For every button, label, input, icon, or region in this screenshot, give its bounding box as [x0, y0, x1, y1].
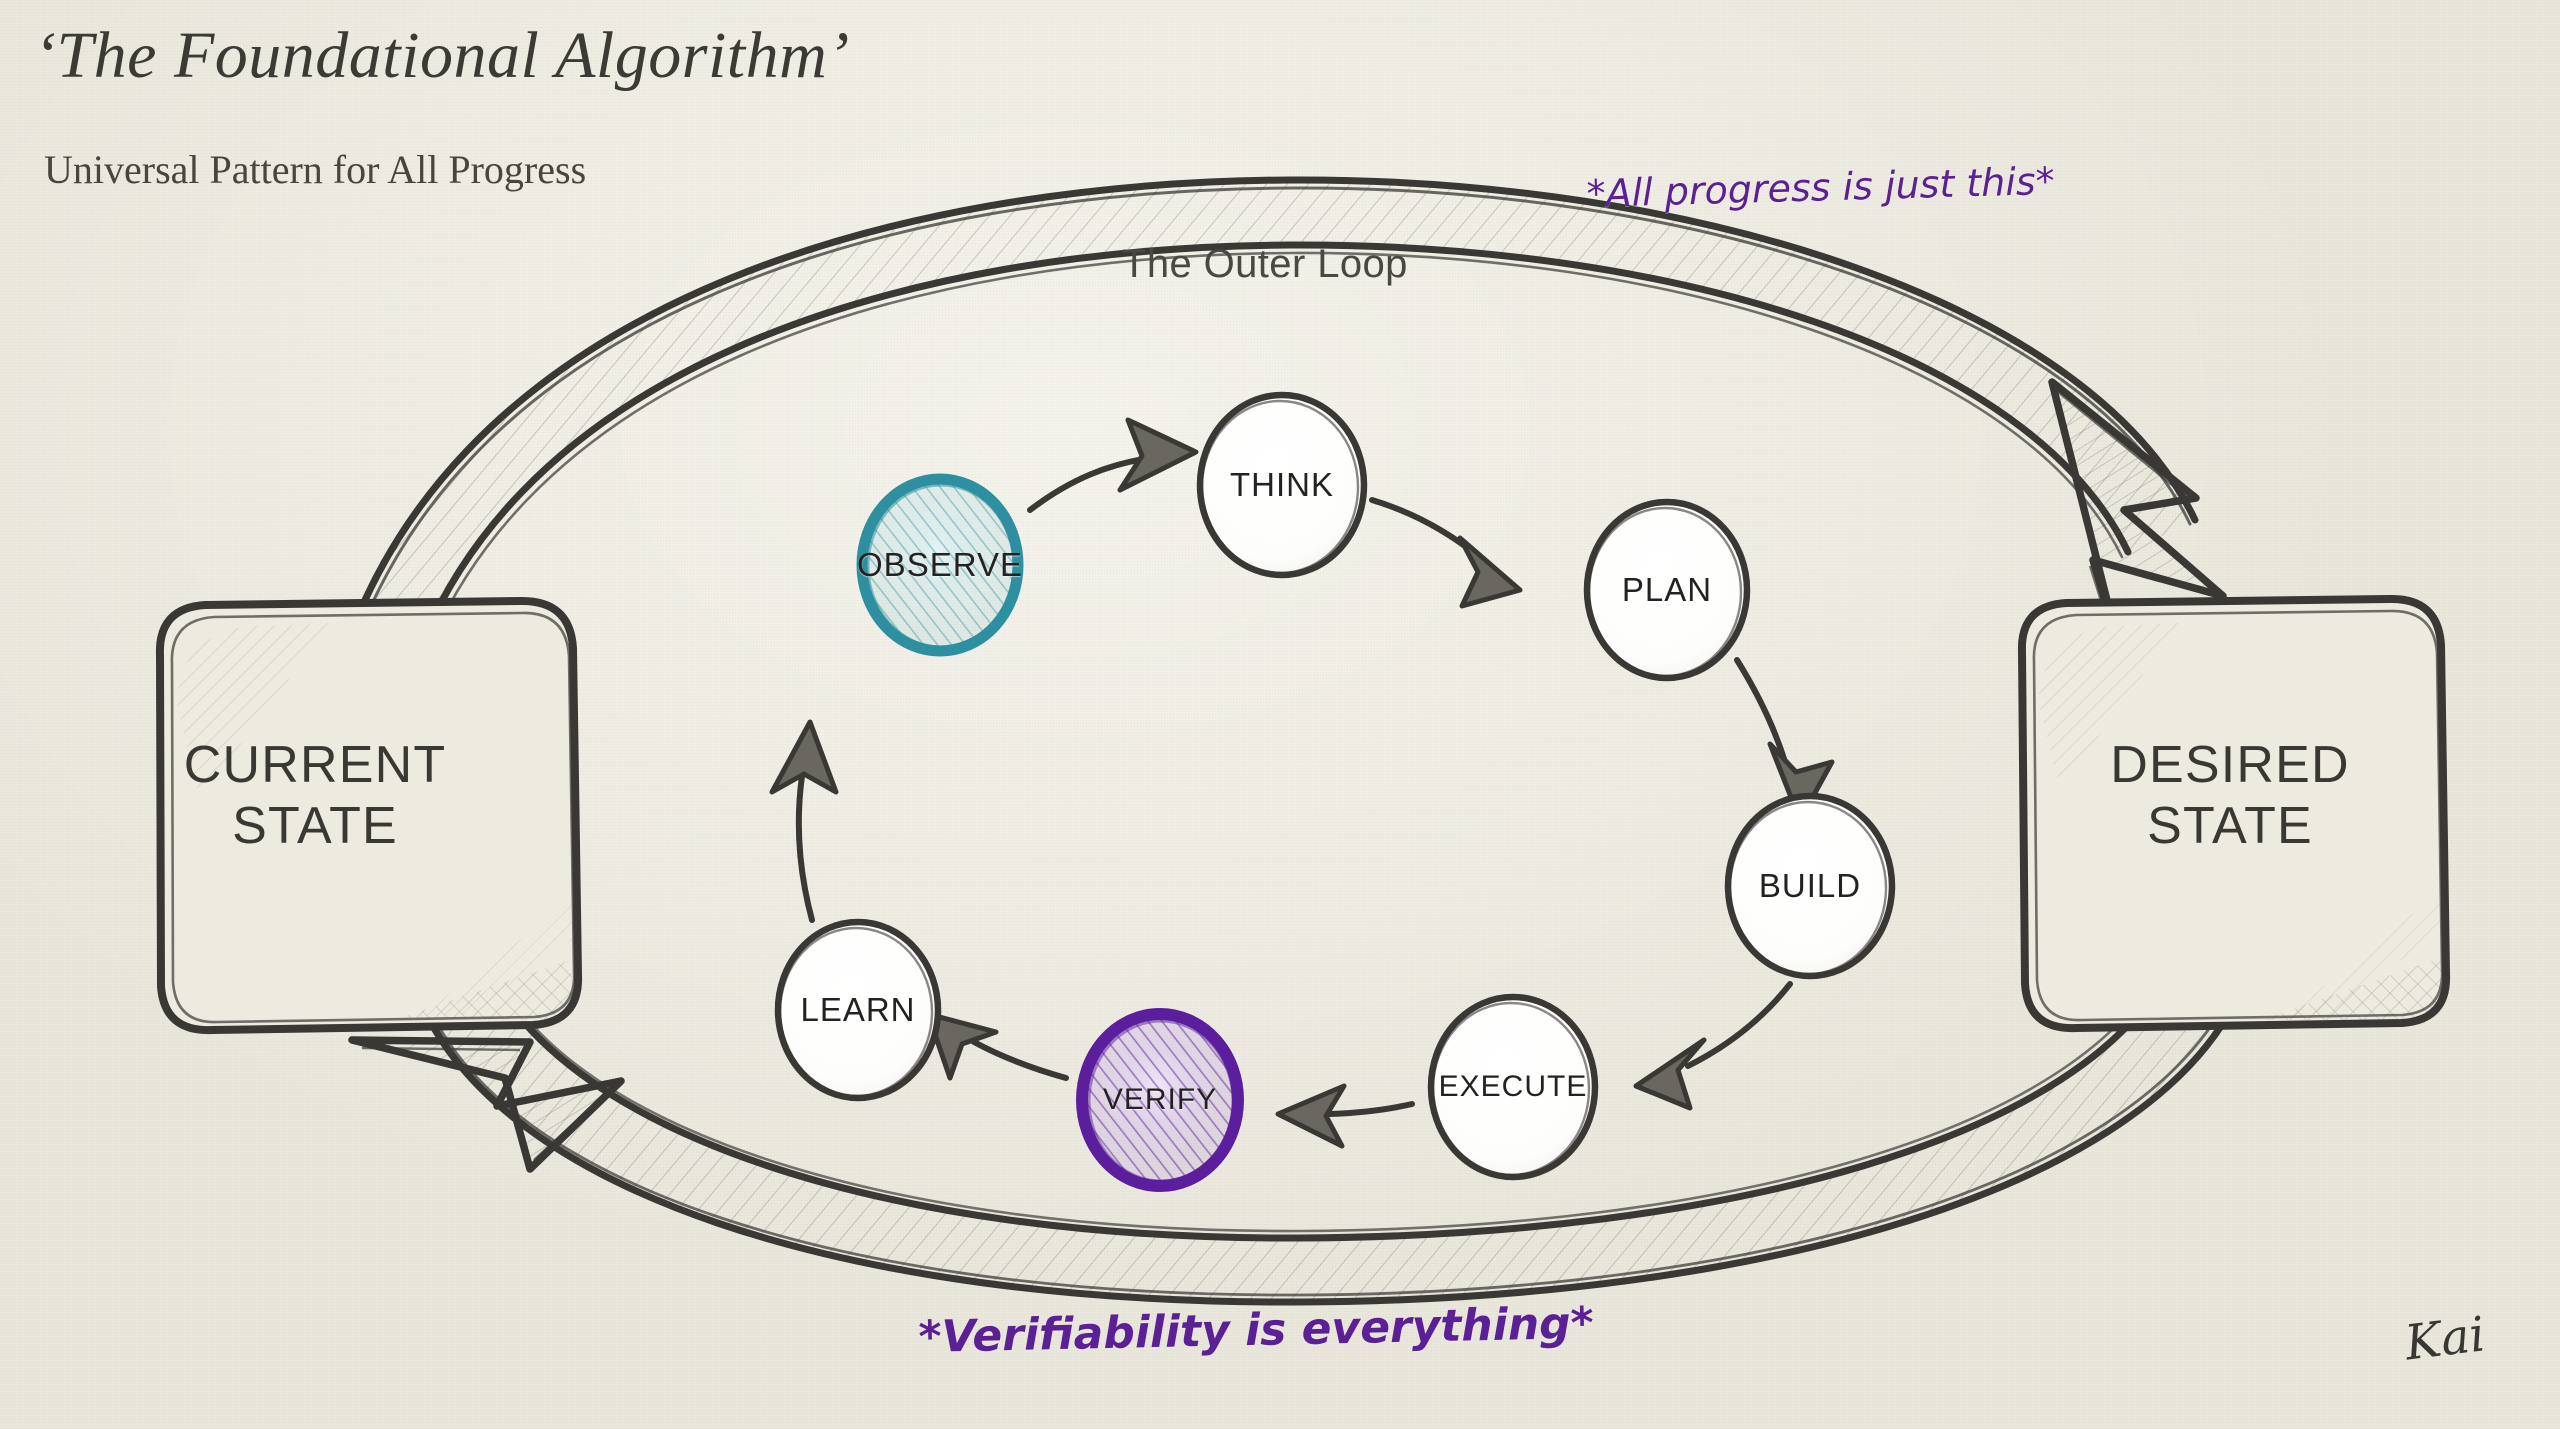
- arrow-learn-observe: [799, 776, 812, 920]
- arrow-execute-verify: [1330, 1104, 1412, 1114]
- outer-loop-bottom-arrow: [352, 957, 2240, 1302]
- arrow-build-execute: [1688, 984, 1790, 1066]
- node-label-plan: PLAN: [1622, 571, 1712, 609]
- current-state-label: CURRENT STATE: [100, 735, 530, 858]
- current-state-line1: CURRENT: [100, 735, 530, 796]
- desired-state-line1: DESIRED: [2010, 735, 2450, 796]
- arrow-think-plan: [1372, 500, 1478, 556]
- current-state-line2: STATE: [100, 796, 530, 857]
- sketch-layer: [0, 0, 2560, 1429]
- node-label-verify: VERIFY: [1103, 1083, 1217, 1117]
- node-label-execute: EXECUTE: [1439, 1070, 1588, 1104]
- node-label-observe: OBSERVE: [857, 546, 1023, 584]
- page-subtitle: Universal Pattern for All Progress: [44, 146, 586, 193]
- outer-loop-label: The Outer Loop: [1122, 242, 1408, 287]
- arrow-verify-learn: [974, 1042, 1066, 1078]
- node-label-learn: LEARN: [800, 991, 915, 1029]
- page-title: ‘The Foundational Algorithm’: [34, 18, 850, 94]
- node-label-build: BUILD: [1759, 867, 1861, 905]
- desired-state-label: DESIRED STATE: [2010, 735, 2450, 858]
- node-label-think: THINK: [1230, 466, 1334, 504]
- desired-state-line2: STATE: [2010, 796, 2450, 857]
- artist-signature: Kai: [2402, 1306, 2488, 1371]
- diagram-canvas: ‘The Foundational Algorithm’ Universal P…: [0, 0, 2560, 1429]
